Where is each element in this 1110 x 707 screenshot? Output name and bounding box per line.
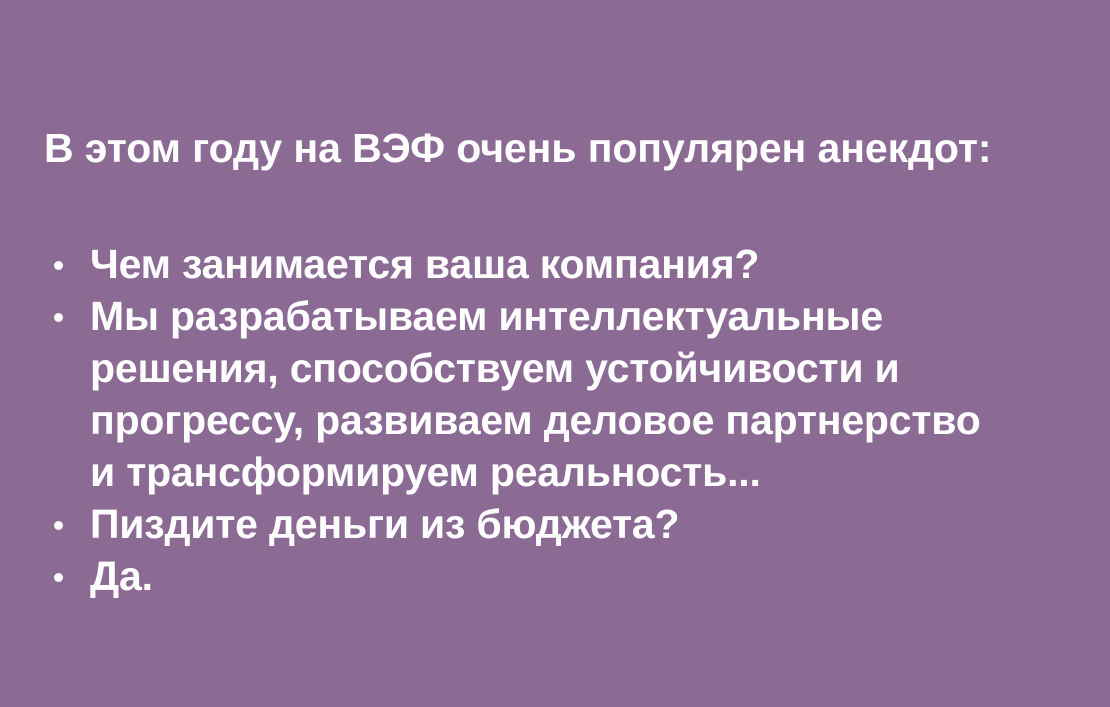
meme-heading: В этом году на ВЭФ очень популярен анекд… (44, 122, 1074, 174)
bullet-dot-icon (54, 261, 63, 270)
bullet-dot-icon (54, 573, 63, 582)
meme-bullet-list: Чем занимается ваша компания? Мы разраба… (0, 238, 1110, 602)
meme-card: В этом году на ВЭФ очень популярен анекд… (0, 0, 1110, 707)
list-item: Мы разрабатываем интеллектуальные решени… (0, 290, 1110, 498)
list-item: Да. (0, 550, 1110, 602)
list-item-text: Пиздите деньги из бюджета? (90, 498, 1070, 550)
bullet-dot-icon (54, 313, 63, 322)
list-item: Пиздите деньги из бюджета? (0, 498, 1110, 550)
bullet-dot-icon (54, 521, 63, 530)
list-item: Чем занимается ваша компания? (0, 238, 1110, 290)
list-item-text: Да. (90, 550, 1070, 602)
list-item-text: Мы разрабатываем интеллектуальные решени… (90, 290, 992, 498)
list-item-text: Чем занимается ваша компания? (90, 238, 1070, 290)
